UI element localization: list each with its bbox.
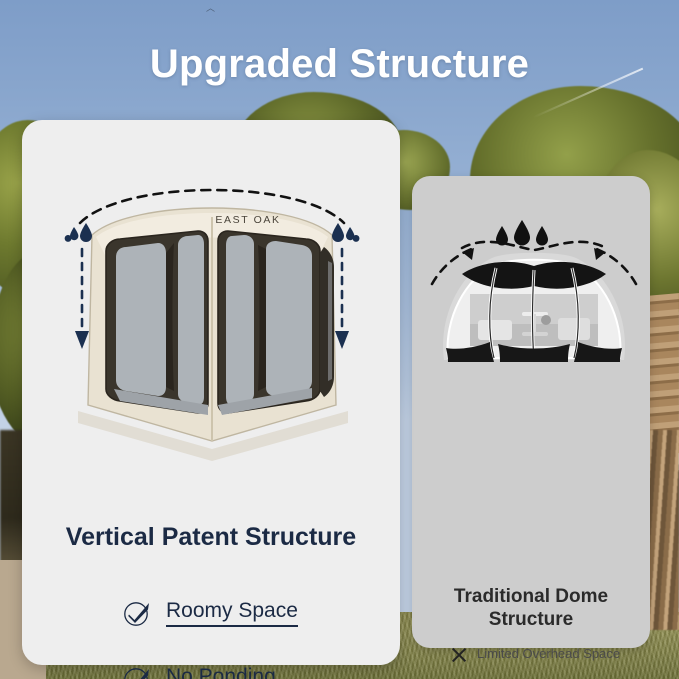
water-droplet-icon xyxy=(332,223,359,242)
traditional-dome-card: Traditional Dome Structure Limited Overh… xyxy=(412,176,650,648)
tent-dome-icon xyxy=(418,208,650,393)
infographic-stage: ︿ Upgraded Structure xyxy=(0,0,679,679)
feature-item: Roomy Space xyxy=(122,580,372,646)
check-circle-icon xyxy=(122,598,152,628)
drawback-label: Limited Overhead Space xyxy=(477,645,620,662)
background-bird: ︿ xyxy=(206,4,215,13)
feature-label: Roomy Space xyxy=(166,599,298,626)
page-title: Upgraded Structure xyxy=(0,42,679,87)
feature-item: No Ponding xyxy=(122,646,372,679)
dashed-arrow-down-icon xyxy=(75,331,89,349)
feature-label: No Ponding xyxy=(166,665,276,679)
panel-title-traditional: Traditional Dome Structure xyxy=(422,585,640,631)
x-mark-icon xyxy=(450,646,468,664)
feature-list: Roomy Space No Ponding M xyxy=(122,580,372,679)
check-circle-icon xyxy=(122,664,152,679)
water-droplet-icon xyxy=(496,220,548,246)
drawback-list: Limited Overhead Space Water Pooling at … xyxy=(450,645,642,679)
vertical-patent-card: EAST OAK xyxy=(22,120,400,665)
tent-brand-label: EAST OAK xyxy=(215,214,280,226)
tent-vertical-wall-icon: EAST OAK xyxy=(62,165,362,485)
panel-title-vertical: Vertical Patent Structure xyxy=(22,523,400,552)
drawback-item: Limited Overhead Space xyxy=(450,645,642,679)
water-droplet-icon xyxy=(65,223,92,242)
dashed-arrow-down-icon xyxy=(335,331,349,349)
